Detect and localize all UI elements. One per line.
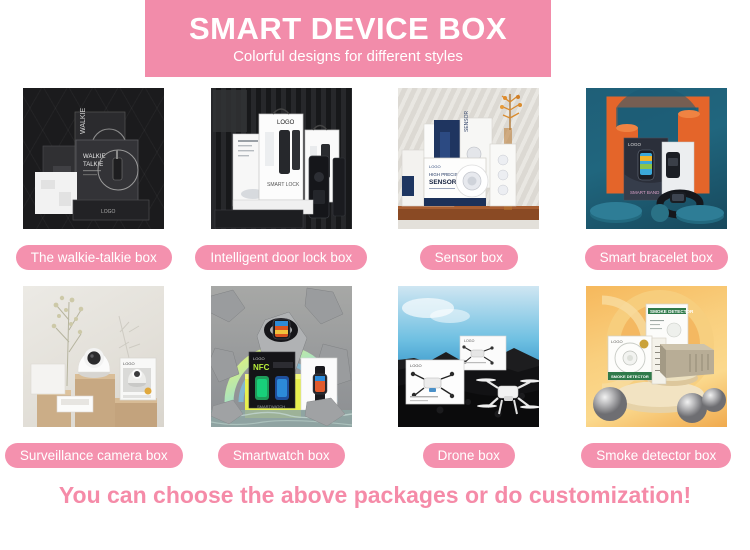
header-banner: SMART DEVICE BOX Colorful designs for di… [145, 0, 551, 77]
product-image-smartwatch[interactable]: LOGO NFC SMARTWATCH [211, 286, 352, 427]
product-image-walkie-talkie[interactable]: WALKIE WALKIE TALKIE LOGO [23, 88, 164, 229]
product-image-bracelet[interactable]: LOGO SMART BAND [586, 88, 727, 229]
product-card-door-lock[interactable]: LOGO SMART LOCK Intelligent door lock bo… [188, 88, 376, 273]
product-card-drone[interactable]: LOGO LOGO [375, 286, 563, 471]
product-label-smoke-detector[interactable]: Smoke detector box [581, 443, 731, 468]
scene-objects-sensor: SENSOR LOGO HIGH PRECISION SENSOR [398, 88, 539, 229]
svg-text:LOGO: LOGO [101, 209, 116, 215]
page-subtitle: Colorful designs for different styles [233, 49, 463, 64]
page-title: SMART DEVICE BOX [189, 13, 507, 44]
product-label-sensor[interactable]: Sensor box [420, 245, 518, 270]
scene-objects-smoke-detector: SMOKE DETECTOR LOGO SMOKE DETECT [586, 286, 727, 427]
svg-text:WALKIE: WALKIE [83, 154, 105, 160]
product-card-smoke-detector[interactable]: SMOKE DETECTOR LOGO SMOKE DETECT [563, 286, 750, 471]
svg-text:LOGO: LOGO [628, 142, 642, 147]
svg-text:LOGO: LOGO [253, 356, 265, 361]
product-card-smartwatch[interactable]: LOGO NFC SMARTWATCH [188, 286, 376, 471]
svg-text:NFC: NFC [253, 363, 270, 372]
product-label-bracelet[interactable]: Smart bracelet box [585, 245, 728, 270]
svg-text:LOGO: LOGO [464, 339, 475, 343]
svg-text:SMARTWATCH: SMARTWATCH [257, 404, 285, 409]
svg-text:SENSOR: SENSOR [464, 110, 470, 132]
product-card-walkie-talkie[interactable]: WALKIE WALKIE TALKIE LOGO The walkie-tal… [0, 88, 188, 273]
scene-objects-door-lock: LOGO SMART LOCK [211, 88, 352, 229]
svg-text:SMOKE DETECTOR: SMOKE DETECTOR [650, 309, 694, 314]
product-image-camera[interactable]: LOGO [23, 286, 164, 427]
product-grid-row-1: WALKIE WALKIE TALKIE LOGO The walkie-tal… [0, 88, 750, 273]
svg-text:WALKIE: WALKIE [80, 107, 87, 134]
product-label-camera[interactable]: Surveillance camera box [5, 443, 183, 468]
svg-text:SMART LOCK: SMART LOCK [267, 182, 300, 188]
product-card-bracelet[interactable]: LOGO SMART BAND Smart b [563, 88, 750, 273]
product-image-door-lock[interactable]: LOGO SMART LOCK [211, 88, 352, 229]
footer-caption: You can choose the above packages or do … [0, 482, 750, 509]
product-grid-row-2: LOGO Surveillance camera box [0, 286, 750, 471]
scene-objects-drone: LOGO LOGO [398, 286, 539, 427]
svg-text:SENSOR: SENSOR [429, 179, 457, 186]
product-label-walkie-talkie[interactable]: The walkie-talkie box [16, 245, 172, 270]
scene-objects-camera: LOGO [23, 286, 164, 427]
product-image-smoke-detector[interactable]: SMOKE DETECTOR LOGO SMOKE DETECT [586, 286, 727, 427]
product-label-door-lock[interactable]: Intelligent door lock box [195, 245, 367, 270]
product-label-drone[interactable]: Drone box [423, 443, 515, 468]
svg-text:TALKIE: TALKIE [83, 162, 103, 168]
product-label-smartwatch[interactable]: Smartwatch box [218, 443, 345, 468]
scene-objects-walkie-talkie: WALKIE WALKIE TALKIE LOGO [23, 88, 164, 229]
svg-text:LOGO: LOGO [429, 164, 441, 169]
svg-text:SMOKE DETECTOR: SMOKE DETECTOR [611, 374, 649, 379]
svg-text:SMART BAND: SMART BAND [630, 190, 660, 195]
product-card-sensor[interactable]: SENSOR LOGO HIGH PRECISION SENSOR Sensor… [375, 88, 563, 273]
scene-objects-bracelet: LOGO SMART BAND [586, 88, 727, 229]
scene-objects-smartwatch: LOGO NFC SMARTWATCH [211, 286, 352, 427]
svg-text:LOGO: LOGO [123, 361, 135, 366]
svg-text:LOGO: LOGO [410, 363, 422, 368]
product-image-sensor[interactable]: SENSOR LOGO HIGH PRECISION SENSOR [398, 88, 539, 229]
product-card-camera[interactable]: LOGO Surveillance camera box [0, 286, 188, 471]
svg-text:LOGO: LOGO [277, 120, 295, 126]
product-image-drone[interactable]: LOGO LOGO [398, 286, 539, 427]
svg-text:LOGO: LOGO [611, 339, 623, 344]
